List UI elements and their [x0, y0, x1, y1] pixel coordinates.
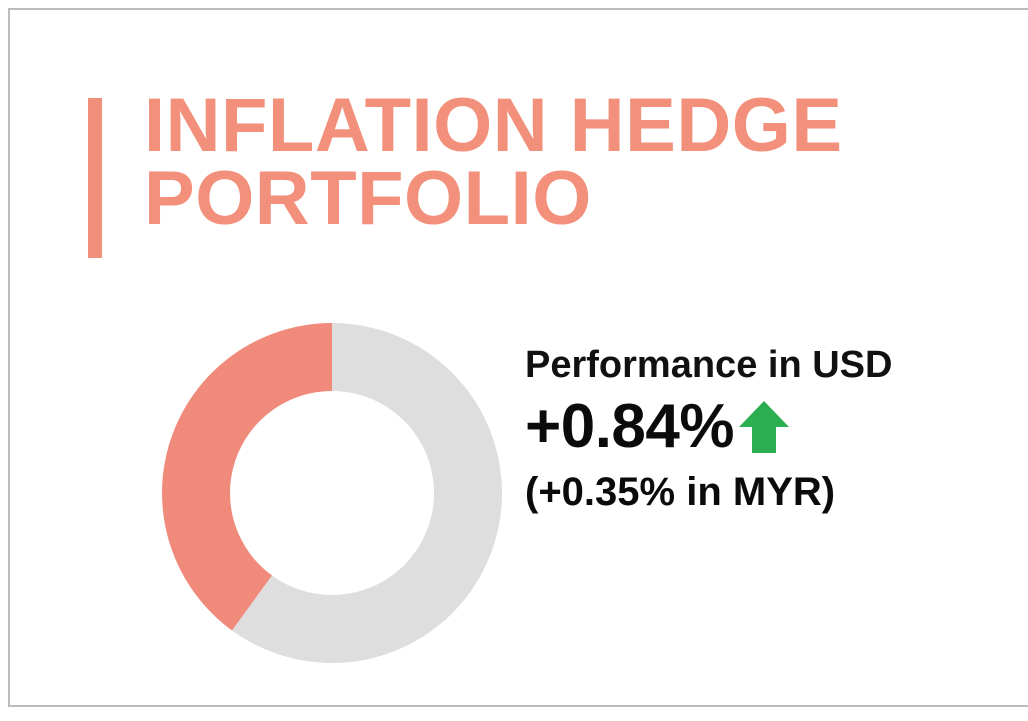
donut-slice: [162, 323, 332, 631]
portfolio-card: INFLATION HEDGE PORTFOLIO Performance in…: [8, 8, 1028, 707]
donut-chart-svg: [162, 323, 502, 663]
page-title: INFLATION HEDGE PORTFOLIO: [144, 90, 843, 236]
performance-value-row: +0.84%: [525, 396, 995, 458]
screenshot-canvas: INFLATION HEDGE PORTFOLIO Performance in…: [0, 0, 1028, 721]
arrow-up-icon: [736, 398, 792, 456]
card-header: INFLATION HEDGE PORTFOLIO: [88, 90, 843, 258]
donut-chart: [162, 323, 502, 663]
performance-secondary-value: (+0.35% in MYR): [525, 470, 995, 515]
performance-label: Performance in USD: [525, 346, 995, 386]
accent-bar: [88, 98, 102, 258]
performance-stats: Performance in USD +0.84% (+0.35% in MYR…: [525, 346, 995, 515]
performance-value: +0.84%: [525, 396, 734, 458]
